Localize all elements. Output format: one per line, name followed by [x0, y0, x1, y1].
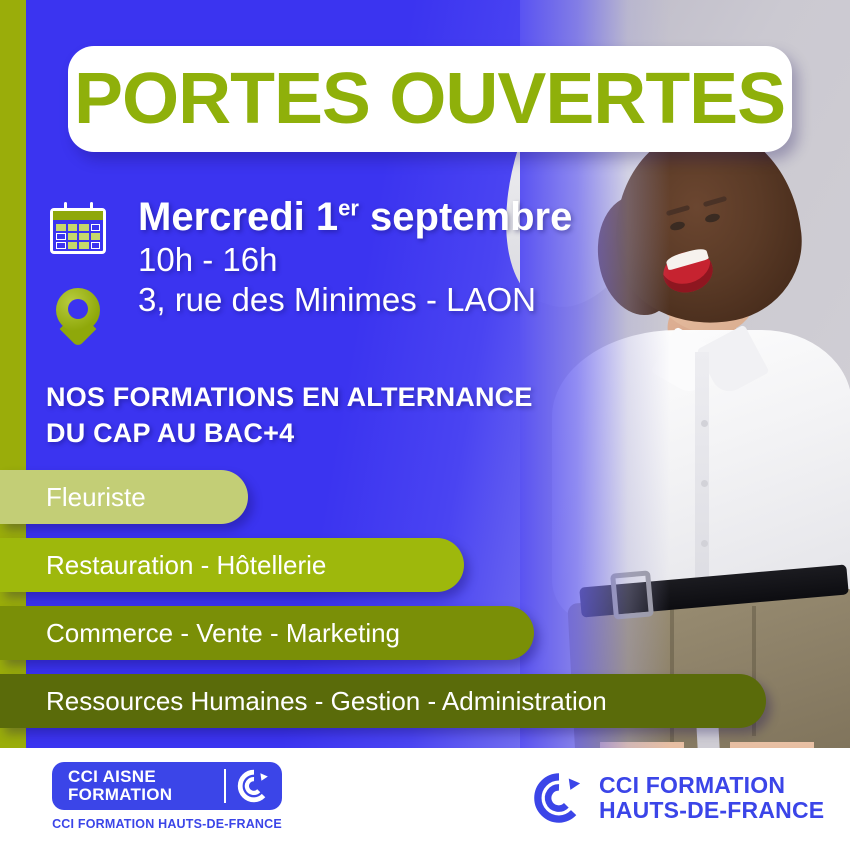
program-label: Restauration - Hôtellerie	[46, 550, 326, 581]
logo-tagline: CCI FORMATION HAUTS-DE-FRANCE	[52, 817, 282, 831]
program-label: Fleuriste	[46, 482, 146, 513]
headline: NOS FORMATIONS EN ALTERNANCE DU CAP AU B…	[46, 380, 533, 451]
title-banner: PORTES OUVERTES	[68, 46, 792, 152]
location-pin-icon	[56, 288, 100, 344]
logo-badge-text: CCI AISNE FORMATION	[52, 762, 172, 810]
program-list: Fleuriste Restauration - Hôtellerie Comm…	[0, 470, 850, 742]
cci-circle-mark-icon	[533, 772, 585, 824]
logo-badge: CCI AISNE FORMATION	[52, 762, 282, 810]
logo-wordmark: CCI FORMATION HAUTS-DE-FRANCE	[599, 773, 824, 823]
footer-bar: CCI AISNE FORMATION CCI FORMATION HAUTS-…	[0, 748, 850, 850]
program-pill[interactable]: Commerce - Vente - Marketing	[0, 606, 534, 660]
cci-aisne-formation-logo[interactable]: CCI AISNE FORMATION CCI FORMATION HAUTS-…	[52, 762, 282, 831]
program-pill[interactable]: Ressources Humaines - Gestion - Administ…	[0, 674, 766, 728]
cci-formation-hdf-logo[interactable]: CCI FORMATION HAUTS-DE-FRANCE	[533, 772, 824, 824]
event-date-ordinal: er	[338, 196, 359, 221]
event-time: 10h - 16h	[138, 240, 572, 280]
headline-line-1: NOS FORMATIONS EN ALTERNANCE	[46, 380, 533, 416]
logo-line-1: CCI FORMATION	[599, 773, 824, 798]
event-info-row: Mercredi 1er septembre 10h - 16h 3, rue …	[46, 196, 572, 320]
program-pill[interactable]: Restauration - Hôtellerie	[0, 538, 464, 592]
poster-root: PORTES OUVERTES	[0, 0, 850, 850]
logo-line-2: FORMATION	[68, 786, 172, 804]
event-address: 3, rue des Minimes - LAON	[138, 280, 572, 320]
headline-line-2: DU CAP AU BAC+4	[46, 416, 533, 452]
event-date-month: septembre	[359, 195, 572, 239]
logo-line-2: HAUTS-DE-FRANCE	[599, 798, 824, 823]
logo-line-1: CCI AISNE	[68, 768, 172, 786]
cci-circle-mark-icon	[226, 762, 282, 810]
calendar-icon	[50, 202, 106, 254]
event-date: Mercredi 1er septembre	[138, 196, 572, 238]
program-label: Commerce - Vente - Marketing	[46, 618, 400, 649]
event-info: Mercredi 1er septembre 10h - 16h 3, rue …	[46, 196, 572, 320]
poster-title: PORTES OUVERTES	[74, 58, 785, 140]
program-label: Ressources Humaines - Gestion - Administ…	[46, 686, 607, 717]
program-pill[interactable]: Fleuriste	[0, 470, 248, 524]
event-date-prefix: Mercredi 1	[138, 195, 338, 239]
shirt-button	[701, 420, 708, 427]
event-text-column: Mercredi 1er septembre 10h - 16h 3, rue …	[138, 196, 572, 320]
